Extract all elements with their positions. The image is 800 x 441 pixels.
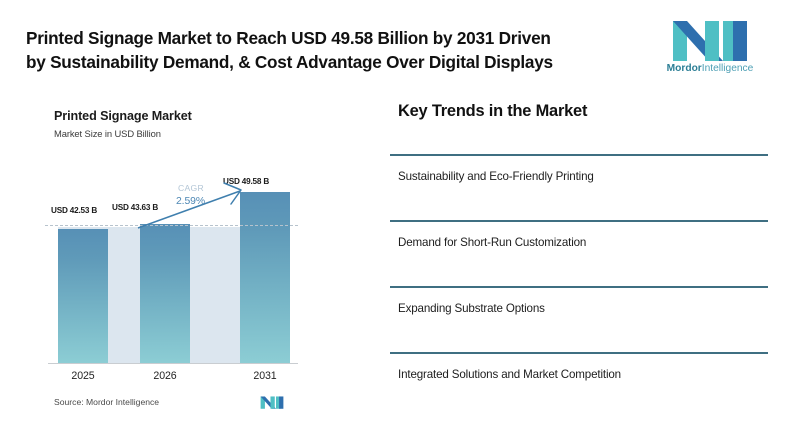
- x-axis-label-2025: 2025: [58, 370, 108, 382]
- trend-item-4[interactable]: Integrated Solutions and Market Competit…: [390, 352, 778, 412]
- chart-source-row: Source: Mordor Intelligence: [54, 394, 334, 416]
- brand-name-secondary: Intelligence: [702, 63, 754, 74]
- bar-2026: [140, 224, 190, 363]
- brand-logo: MordorIntelligence: [657, 17, 763, 85]
- trend-item-1[interactable]: Sustainability and Eco-Friendly Printing: [390, 154, 778, 214]
- x-axis-label-2026: 2026: [140, 370, 190, 382]
- trend-label-1: Sustainability and Eco-Friendly Printing: [398, 170, 594, 183]
- bar-2025: [58, 229, 108, 363]
- chart-axis-baseline: [48, 363, 298, 364]
- bar-value-label-2025: USD 42.53 B: [51, 206, 97, 215]
- growth-arrow-icon: [134, 180, 254, 232]
- trend-item-3[interactable]: Expanding Substrate Options: [390, 286, 778, 346]
- trend-label-4: Integrated Solutions and Market Competit…: [398, 368, 621, 381]
- page-title-line-2: by Sustainability Demand, & Cost Advanta…: [26, 50, 626, 74]
- trend-label-3: Expanding Substrate Options: [398, 302, 545, 315]
- trend-label-2: Demand for Short-Run Customization: [398, 236, 586, 249]
- bar-chart-plot: USD 42.53 B USD 43.63 B USD 49.58 B CAGR…: [26, 98, 356, 428]
- trend-divider-3: [390, 286, 768, 288]
- page-header: Printed Signage Market to Reach USD 49.5…: [0, 0, 800, 92]
- trend-item-2[interactable]: Demand for Short-Run Customization: [390, 220, 778, 280]
- key-trends-panel: Key Trends in the Market Sustainability …: [390, 96, 778, 396]
- chart-source-text: Source: Mordor Intelligence: [54, 397, 159, 407]
- chart-band-gap-1: [108, 227, 140, 363]
- brand-name-primary: Mordor: [667, 63, 702, 74]
- page-title-line-1: Printed Signage Market to Reach USD 49.5…: [26, 26, 626, 50]
- mordor-logo-small-icon: [260, 394, 284, 410]
- infographic-page: Printed Signage Market to Reach USD 49.5…: [0, 0, 800, 441]
- brand-wordmark: MordorIntelligence: [657, 63, 763, 74]
- key-trends-title: Key Trends in the Market: [398, 102, 587, 121]
- market-size-chart-panel: Printed Signage Market Market Size in US…: [26, 98, 356, 428]
- trend-divider-4: [390, 352, 768, 354]
- trend-divider-2: [390, 220, 768, 222]
- x-axis-label-2031: 2031: [240, 370, 290, 382]
- trend-divider-1: [390, 154, 768, 156]
- mordor-logo-icon: [671, 17, 749, 61]
- page-title: Printed Signage Market to Reach USD 49.5…: [26, 26, 626, 75]
